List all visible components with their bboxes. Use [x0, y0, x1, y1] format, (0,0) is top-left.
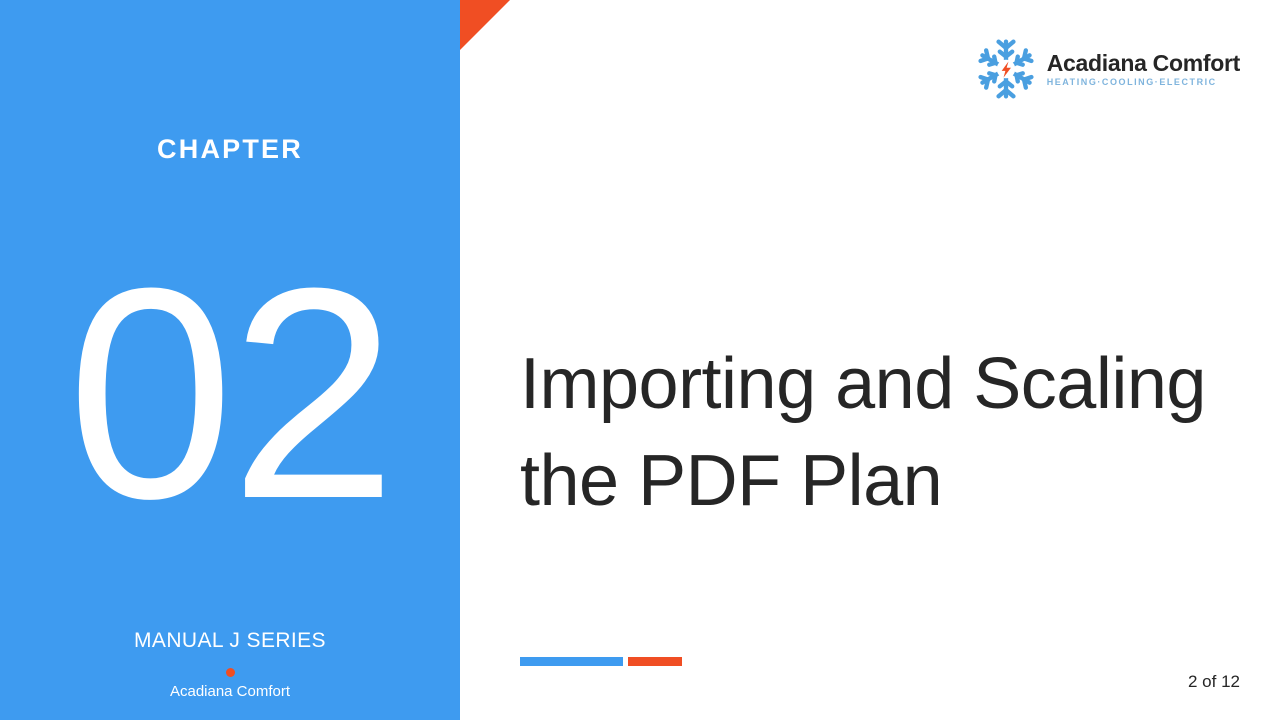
corner-wedge-decoration [460, 0, 510, 50]
accent-bars [520, 657, 682, 666]
dot-separator-icon [226, 668, 235, 677]
logo-company-name: Acadiana Comfort [1047, 50, 1240, 76]
accent-bar-orange [628, 657, 682, 666]
brand-subtitle: Acadiana Comfort [0, 682, 460, 701]
chapter-title-slide: CHAPTER 02 MANUAL J SERIES Acadiana Comf… [0, 0, 1280, 720]
page-indicator: 2 of 12 [1188, 671, 1240, 693]
logo-text-block: Acadiana Comfort HEATING·COOLING·ELECTRI… [1047, 50, 1240, 88]
slide-title: Importing and Scaling the PDF Plan [520, 336, 1240, 530]
chapter-number: 02 [0, 243, 460, 543]
snowflake-bolt-icon [975, 38, 1037, 100]
series-label: MANUAL J SERIES [0, 628, 460, 654]
chapter-label: CHAPTER [0, 131, 460, 167]
slide-title-line-1: Importing and Scaling [520, 336, 1240, 433]
slide-title-line-2: the PDF Plan [520, 433, 1240, 530]
accent-bar-blue [520, 657, 623, 666]
brand-logo: Acadiana Comfort HEATING·COOLING·ELECTRI… [975, 38, 1240, 100]
chapter-panel: CHAPTER 02 MANUAL J SERIES Acadiana Comf… [0, 0, 460, 720]
logo-tagline: HEATING·COOLING·ELECTRIC [1047, 76, 1217, 88]
